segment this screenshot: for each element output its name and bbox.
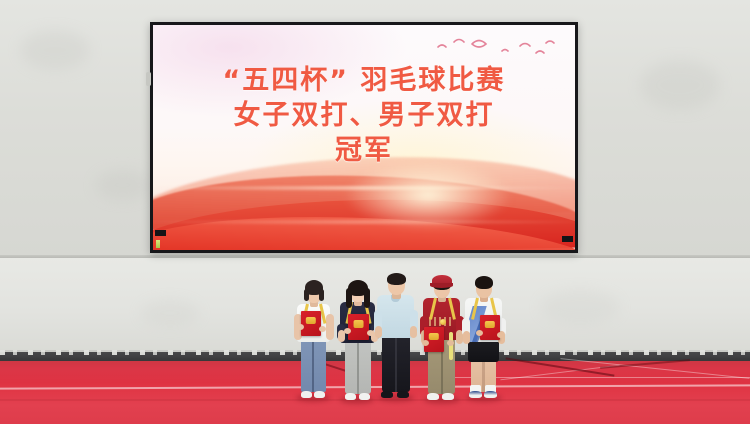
hand bbox=[422, 340, 429, 346]
shoe bbox=[314, 391, 325, 398]
led-power-indicator bbox=[156, 240, 160, 248]
person-presenter[interactable] bbox=[373, 272, 419, 398]
forearm bbox=[463, 331, 470, 344]
forearm bbox=[375, 326, 382, 338]
certificate bbox=[301, 311, 321, 336]
person-awardee-3[interactable] bbox=[419, 270, 465, 400]
shoe bbox=[442, 393, 454, 400]
hand bbox=[344, 328, 351, 334]
cap-brim bbox=[430, 283, 453, 288]
black-shorts bbox=[468, 340, 499, 362]
led-panel-marker bbox=[155, 230, 166, 236]
shoe bbox=[301, 391, 312, 398]
led-display[interactable]: “五四杯” 羽毛球比赛 女子双打、男子双打 冠军 bbox=[150, 22, 578, 253]
led-title-line-3: 冠军 bbox=[153, 133, 575, 168]
hair bbox=[475, 276, 493, 289]
hand bbox=[476, 330, 483, 336]
hand bbox=[447, 340, 454, 346]
shoe bbox=[381, 391, 393, 398]
person-awardee-1[interactable] bbox=[292, 278, 336, 398]
led-panel-marker bbox=[562, 236, 573, 242]
hand bbox=[297, 324, 304, 330]
shoe bbox=[345, 393, 356, 400]
hair bbox=[387, 273, 406, 285]
wave-glow bbox=[343, 160, 513, 230]
led-title-line-1: “五四杯” 羽毛球比赛 bbox=[153, 63, 575, 98]
hand bbox=[497, 332, 504, 338]
led-title-line-2: 女子双打、男子双打 bbox=[153, 98, 575, 133]
led-title-text: “五四杯” 羽毛球比赛 女子双打、男子双打 冠军 bbox=[153, 63, 575, 168]
shoe bbox=[484, 391, 497, 398]
shoe bbox=[397, 391, 409, 398]
forearm bbox=[410, 326, 417, 338]
badminton-racket-handle bbox=[449, 332, 453, 360]
led-side-bracket bbox=[146, 72, 151, 86]
hand bbox=[319, 326, 326, 332]
shoe bbox=[359, 393, 370, 400]
person-awardee-4[interactable] bbox=[461, 272, 507, 398]
medal bbox=[440, 319, 446, 325]
shoe bbox=[427, 393, 439, 400]
certificate bbox=[348, 314, 369, 340]
photo-scene: “五四杯” 羽毛球比赛 女子双打、男子双打 冠军 bbox=[0, 0, 750, 424]
arm bbox=[326, 314, 334, 340]
shoe bbox=[469, 391, 482, 398]
